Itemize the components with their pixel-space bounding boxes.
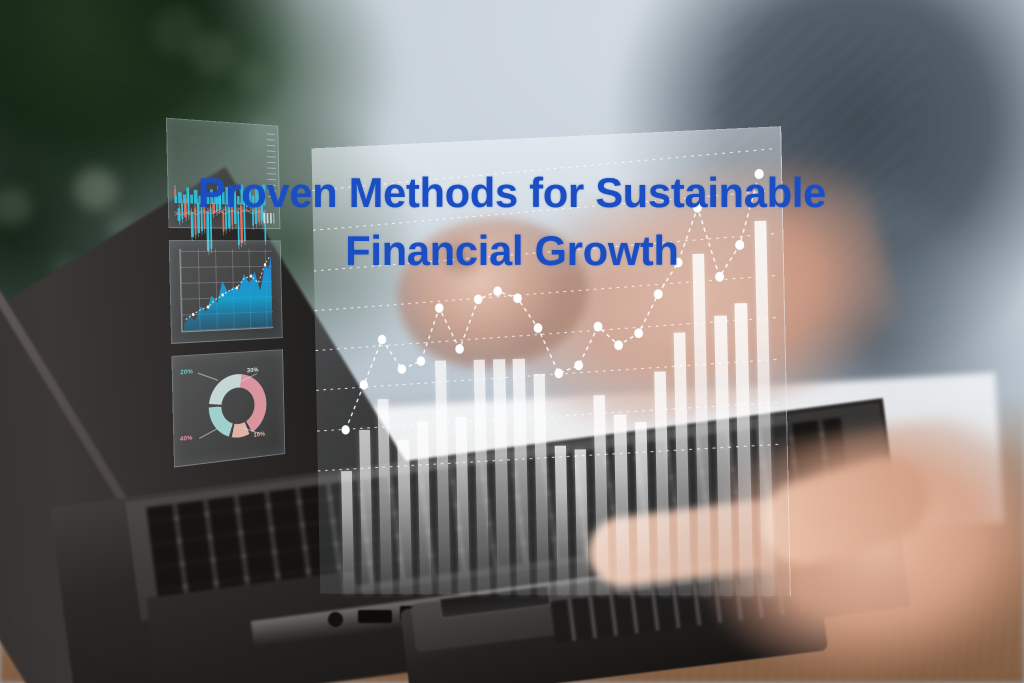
- usb-port: [358, 610, 392, 623]
- donut-leader-line: [199, 428, 218, 439]
- bokeh-light: [152, 6, 204, 56]
- donut-leader-line: [198, 373, 219, 381]
- donut-label-40: 40%: [180, 435, 193, 443]
- page-title: Proven Methods for Sustainable Financial…: [0, 164, 1024, 280]
- trend-marker: [359, 380, 368, 390]
- trend-marker: [554, 368, 563, 378]
- page-title-line-1: Proven Methods for Sustainable: [198, 169, 826, 216]
- trend-marker: [341, 425, 350, 435]
- trend-marker: [634, 328, 643, 338]
- trend-marker: [493, 286, 502, 296]
- trend-marker: [574, 360, 583, 370]
- donut-label-20: 20%: [180, 368, 193, 376]
- donut-breakdown-card[interactable]: 20% 30% 40% 10%: [171, 349, 285, 467]
- donut-label-30: 30%: [247, 367, 259, 375]
- power-port: [328, 612, 343, 627]
- donut-label-10: 10%: [253, 431, 265, 439]
- trend-marker: [455, 344, 464, 354]
- page-title-line-2: Financial Growth: [0, 222, 1024, 280]
- trend-marker: [654, 289, 663, 299]
- trend-marker: [474, 294, 483, 304]
- donut-chart: 20% 30% 40% 10%: [172, 350, 286, 468]
- trend-marker: [378, 335, 387, 345]
- trend-marker: [417, 356, 426, 366]
- donut-ring: [208, 372, 267, 441]
- marketing-banner: 20% 30% 40% 10% Proven Methods for Susta…: [0, 0, 1024, 683]
- trend-marker: [534, 323, 543, 333]
- trend-marker: [614, 340, 623, 350]
- bokeh-light: [232, 58, 268, 92]
- trend-marker: [435, 303, 444, 313]
